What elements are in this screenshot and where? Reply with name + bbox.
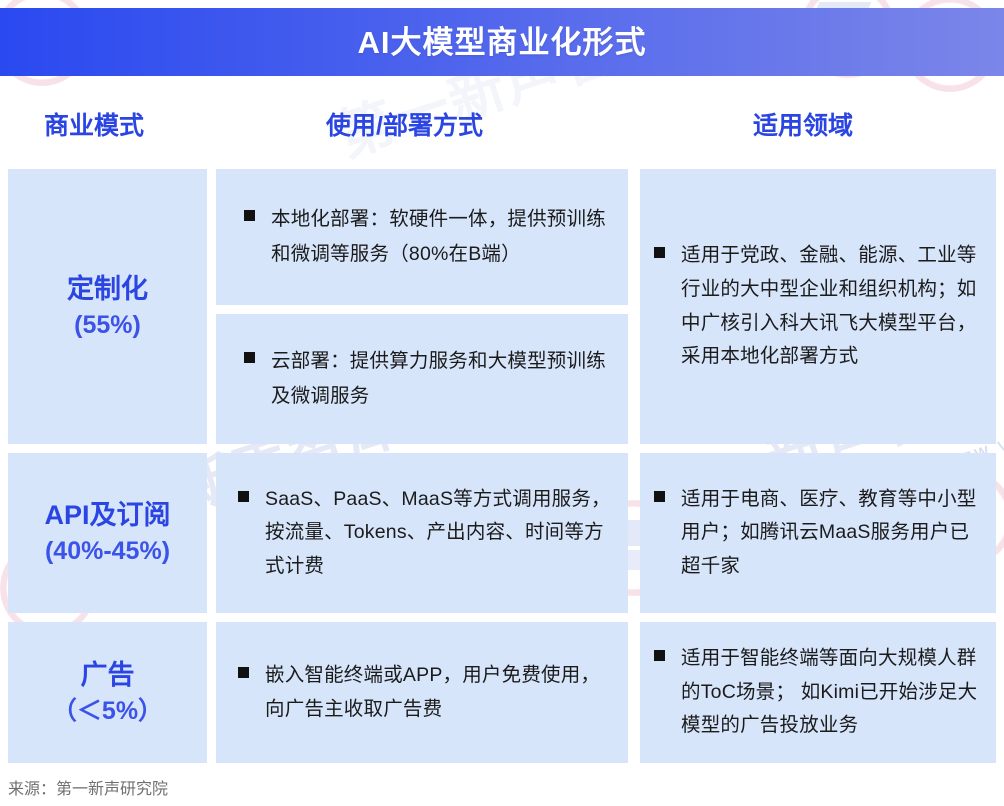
mode-percent: （＜5%） [52,694,163,729]
list-item-text: SaaS、PaaS、MaaS等方式调用服务，按流量、Tokens、产出内容、时间… [265,483,612,584]
bullet-square-icon [654,247,665,258]
table-cell-deployment: 本地化部署：软硬件一体，提供预训练和微调等服务（80%在B端） [216,169,628,305]
list-item-text: 适用于智能终端等面向大规模人群的ToC场景； 如Kimi已开始涉足大模型的广告投… [681,642,980,743]
column-header-business-model: 商业模式 [44,106,144,142]
bullet-square-icon [654,491,665,502]
list-item-text: 嵌入智能终端或APP，用户免费使用，向广告主收取广告费 [265,659,612,726]
list-item: SaaS、PaaS、MaaS等方式调用服务，按流量、Tokens、产出内容、时间… [216,483,628,584]
mode-percent: (40%-45%) [45,534,170,569]
mode-name: 定制化 [67,271,148,308]
list-item: 云部署：提供算力服务和大模型预训练及微调服务 [216,344,628,413]
table-cell-deployment: 云部署：提供算力服务和大模型预训练及微调服务 [216,314,628,444]
table-cell-domain: 适用于党政、金融、能源、工业等行业的大中型企业和组织机构；如中广核引入科大讯飞大… [640,169,996,444]
list-item: 嵌入智能终端或APP，用户免费使用，向广告主收取广告费 [216,659,628,726]
table-cell-deployment: SaaS、PaaS、MaaS等方式调用服务，按流量、Tokens、产出内容、时间… [216,453,628,613]
bullet-square-icon [244,352,255,363]
column-header-row: 商业模式 使用/部署方式 适用领域 [0,100,1004,152]
bullet-square-icon [238,491,249,502]
source-note: 来源：第一新声研究院 [8,775,168,799]
list-item-text: 本地化部署：软硬件一体，提供预训练和微调等服务（80%在B端） [271,202,612,271]
list-item-text: 云部署：提供算力服务和大模型预训练及微调服务 [271,344,612,413]
list-item: 适用于智能终端等面向大规模人群的ToC场景； 如Kimi已开始涉足大模型的广告投… [640,642,996,743]
list-item-text: 适用于党政、金融、能源、工业等行业的大中型企业和组织机构；如中广核引入科大讯飞大… [681,239,980,373]
list-item: 本地化部署：软硬件一体，提供预训练和微调等服务（80%在B端） [216,202,628,271]
bullet-square-icon [244,210,255,221]
list-item: 适用于电商、医疗、教育等中小型用户；如腾讯云MaaS服务用户已超千家 [640,483,996,584]
table-cell-mode: 广告 （＜5%） [8,622,207,763]
comparison-table: 定制化 (55%) 本地化部署：软硬件一体，提供预训练和微调等服务（80%在B端… [0,169,1004,763]
list-item: 适用于党政、金融、能源、工业等行业的大中型企业和组织机构；如中广核引入科大讯飞大… [640,239,996,373]
page-title: AI大模型商业化形式 [358,27,647,58]
mode-name: 广告 [81,657,135,694]
table-cell-domain: 适用于电商、医疗、教育等中小型用户；如腾讯云MaaS服务用户已超千家 [640,453,996,613]
page-banner: AI大模型商业化形式 [0,8,1004,76]
mode-percent: (55%) [74,308,141,343]
table-cell-domain: 适用于智能终端等面向大规模人群的ToC场景； 如Kimi已开始涉足大模型的广告投… [640,622,996,763]
table-cell-deployment: 嵌入智能终端或APP，用户免费使用，向广告主收取广告费 [216,622,628,763]
table-cell-mode: 定制化 (55%) [8,169,207,444]
table-cell-mode: API及订阅 (40%-45%) [8,453,207,613]
mode-name: API及订阅 [44,497,170,534]
bullet-square-icon [238,667,249,678]
column-header-deployment: 使用/部署方式 [326,106,483,142]
column-header-domain: 适用领域 [753,106,853,142]
list-item-text: 适用于电商、医疗、教育等中小型用户；如腾讯云MaaS服务用户已超千家 [681,483,980,584]
bullet-square-icon [654,650,665,661]
